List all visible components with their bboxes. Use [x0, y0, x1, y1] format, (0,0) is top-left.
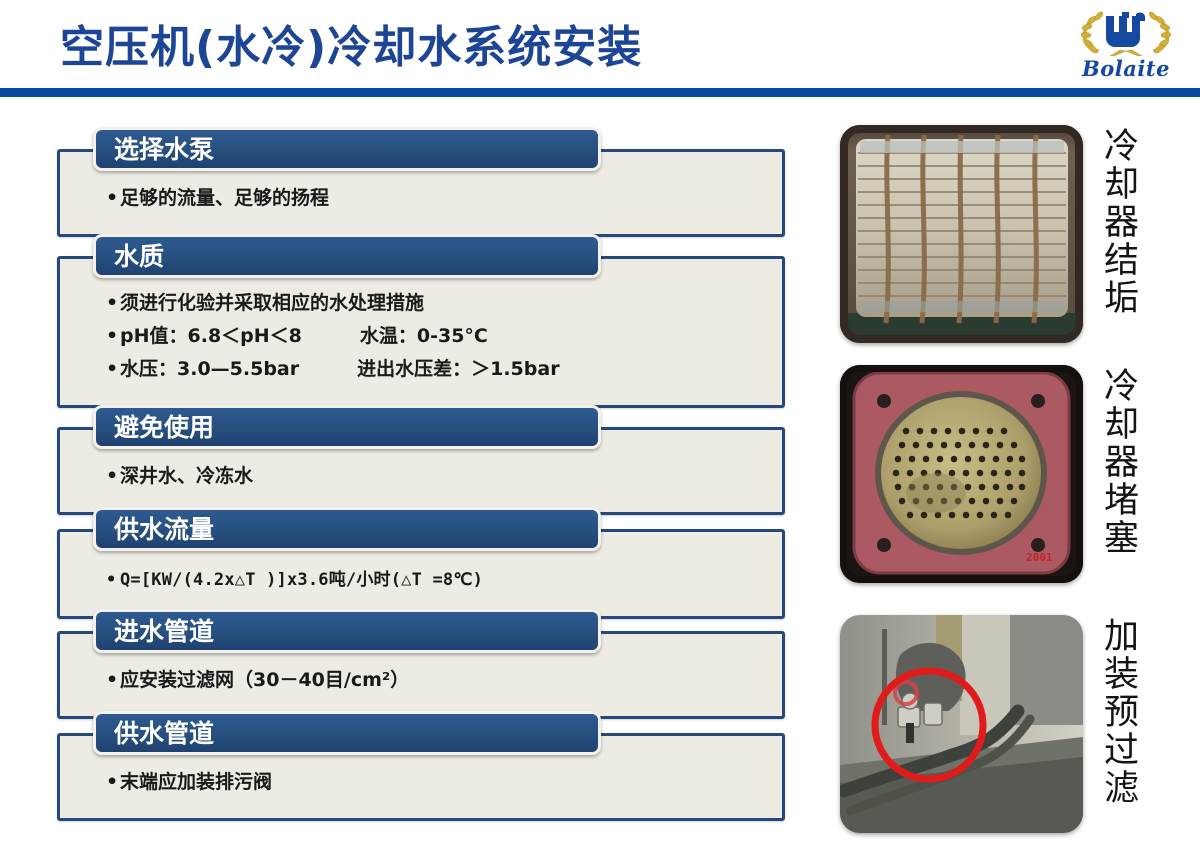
- bullet-dot: •: [106, 287, 120, 320]
- brand-logo: Bolaite: [1070, 4, 1182, 84]
- bullet-text: Q=[KW/(4.2x△T )]x3.6吨/小时(△T =8℃): [120, 570, 483, 590]
- photo-caption-2: 冷却器堵塞: [1092, 367, 1144, 557]
- bolaite-laurel-monogram-icon: [1070, 4, 1182, 56]
- bullet-item: •深井水、冷冻水: [106, 460, 782, 493]
- bullet-dot: •: [106, 564, 120, 597]
- section-header-4: 供水流量: [93, 507, 601, 551]
- section-title-5: 进水管道: [114, 616, 214, 648]
- section-header-5: 进水管道: [93, 609, 601, 653]
- bullet-item: •末端应加装排污阀: [106, 766, 782, 799]
- pre-filter-installation-piping-photo: [840, 615, 1083, 833]
- photos-column: 冷却器结垢: [820, 97, 1200, 858]
- bullet-dot: •: [106, 766, 120, 799]
- section-bullets-2: •须进行化验并采取相应的水处理措施 •pH值：6.8＜pH＜8水温：0-35°C…: [60, 259, 782, 394]
- section-title-6: 供水管道: [114, 718, 214, 750]
- slide-header: 空压机(水冷)冷却水系统安装: [0, 0, 1200, 97]
- section-body-2: •须进行化验并采取相应的水处理措施 •pH值：6.8＜pH＜8水温：0-35°C…: [57, 256, 785, 408]
- section-header-6: 供水管道: [93, 711, 601, 755]
- photo-row-3: 加装预过滤: [820, 615, 1200, 843]
- bullet-item: •Q=[KW/(4.2x△T )]x3.6吨/小时(△T =8℃): [106, 564, 782, 597]
- section-header-1: 选择水泵: [93, 127, 601, 171]
- bullet-text-secondary: 进出水压差：＞1.5bar: [357, 353, 559, 386]
- section-header-3: 避免使用: [93, 405, 601, 449]
- bullet-text: 足够的流量、足够的扬程: [120, 187, 329, 209]
- bullet-dot: •: [106, 182, 120, 215]
- bullet-dot: •: [106, 664, 120, 697]
- bullet-text: 末端应加装排污阀: [120, 771, 272, 793]
- sections-column: •足够的流量、足够的扬程 选择水泵 •须进行化验并采取相应的水处理措施 •pH值…: [0, 97, 820, 858]
- bullet-item: •水压：3.0—5.5bar进出水压差：＞1.5bar: [106, 353, 782, 386]
- section-title-4: 供水流量: [114, 514, 214, 546]
- bullet-dot: •: [106, 460, 120, 493]
- bullet-item: •pH值：6.8＜pH＜8水温：0-35°C: [106, 320, 782, 353]
- header-divider-rule: [0, 88, 1200, 97]
- photo-date-stamp: 2001: [1026, 551, 1053, 564]
- brand-wordmark: Bolaite: [1070, 58, 1182, 80]
- section-title-1: 选择水泵: [114, 134, 214, 166]
- photo-row-1: 冷却器结垢: [820, 125, 1200, 353]
- bullet-text-secondary: 水温：0-35°C: [360, 320, 488, 353]
- section-header-2: 水质: [93, 234, 601, 278]
- bullet-text: 深井水、冷冻水: [120, 465, 253, 487]
- bullet-dot: •: [106, 353, 120, 386]
- bullet-item: •须进行化验并采取相应的水处理措施: [106, 287, 782, 320]
- photo-row-2: 2001 冷却器堵塞: [820, 365, 1200, 593]
- blocked-cooler-tube-sheet-photo: 2001: [840, 365, 1083, 583]
- photo-caption-1: 冷却器结垢: [1092, 127, 1144, 317]
- bullet-item: •应安装过滤网（30－40目/cm²）: [106, 664, 782, 697]
- bullet-item: •足够的流量、足够的扬程: [106, 182, 782, 215]
- bullet-text: pH值：6.8＜pH＜8: [120, 325, 302, 347]
- section-title-3: 避免使用: [114, 412, 214, 444]
- bullet-text: 须进行化验并采取相应的水处理措施: [120, 292, 424, 314]
- section-title-2: 水质: [114, 241, 164, 273]
- bullet-dot: •: [106, 320, 120, 353]
- page-title: 空压机(水冷)冷却水系统安装: [60, 18, 642, 78]
- photo-caption-3: 加装预过滤: [1092, 617, 1144, 807]
- bullet-text: 水压：3.0—5.5bar: [120, 358, 299, 380]
- scaled-cooler-tube-bundle-photo: [840, 125, 1083, 343]
- bullet-text: 应安装过滤网（30－40目/cm²）: [120, 669, 409, 691]
